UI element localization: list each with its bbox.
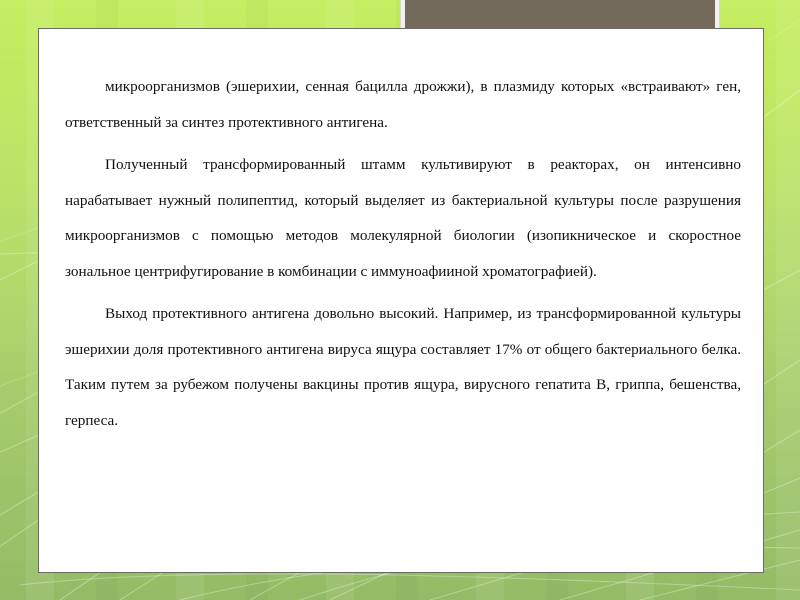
paragraph-3: Выход протективного антигена довольно вы… xyxy=(65,296,741,438)
content-text-box[interactable]: микроорганизмов (эшерихии, сенная бацилл… xyxy=(38,28,764,573)
presentation-slide: микроорганизмов (эшерихии, сенная бацилл… xyxy=(0,0,800,600)
paragraph-2: Полученный трансформированный штамм куль… xyxy=(65,147,741,289)
paragraph-1: микроорганизмов (эшерихии, сенная бацилл… xyxy=(65,69,741,140)
slide-body-text: микроорганизмов (эшерихии, сенная бацилл… xyxy=(65,69,741,438)
